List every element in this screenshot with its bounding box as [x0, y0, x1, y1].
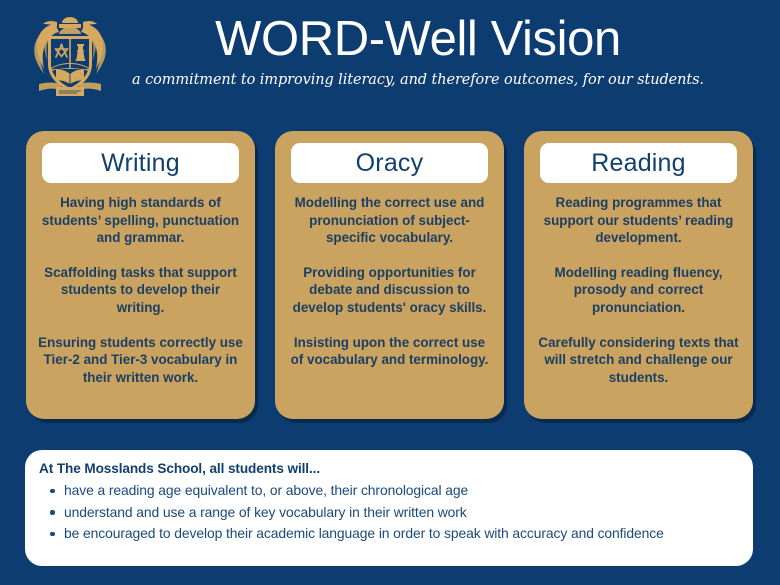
card-writing-paragraph-2: Scaffolding tasks that support students … [38, 264, 243, 317]
list-item: understand and use a range of key vocabu… [39, 502, 739, 524]
title-block: WORD-Well Vision a commitment to improvi… [118, 8, 718, 89]
student-outcomes-panel: At The Mosslands School, all students wi… [25, 450, 753, 566]
card-oracy-paragraph-2: Providing opportunities for debate and d… [287, 264, 492, 317]
card-reading-paragraph-2: Modelling reading fluency, prosody and c… [536, 264, 741, 317]
card-oracy: Oracy Modelling the correct use and pron… [275, 131, 504, 419]
card-reading-body: Reading programmes that support our stud… [534, 194, 743, 386]
strand-cards-row: Writing Having high standards of student… [0, 131, 780, 423]
poster-canvas: WORD-Well Vision a commitment to improvi… [0, 0, 780, 585]
card-oracy-title: Oracy [356, 150, 424, 176]
list-item-text: have a reading age equivalent to, or abo… [64, 482, 468, 498]
student-outcomes-heading: At The Mosslands School, all students wi… [39, 459, 739, 479]
card-writing-body: Having high standards of students’ spell… [36, 194, 245, 386]
school-crest-icon [31, 12, 109, 104]
list-item-text: be encouraged to develop their academic … [64, 525, 664, 541]
list-item-text: understand and use a range of key vocabu… [64, 504, 467, 520]
card-oracy-title-pill: Oracy [291, 143, 488, 183]
card-reading-paragraph-3: Carefully considering texts that will st… [536, 334, 741, 387]
page-title: WORD-Well Vision [118, 8, 718, 70]
card-oracy-paragraph-1: Modelling the correct use and pronunciat… [287, 194, 492, 247]
bullet-icon [50, 510, 55, 515]
page-subtitle: a commitment to improving literacy, and … [118, 71, 718, 89]
bullet-icon [50, 489, 55, 494]
student-outcomes-list: have a reading age equivalent to, or abo… [39, 480, 739, 545]
card-reading-title: Reading [591, 150, 686, 176]
card-writing-paragraph-1: Having high standards of students’ spell… [38, 194, 243, 247]
list-item: be encouraged to develop their academic … [39, 523, 739, 545]
card-reading: Reading Reading programmes that support … [524, 131, 753, 419]
card-oracy-paragraph-3: Insisting upon the correct use of vocabu… [287, 334, 492, 369]
bullet-icon [50, 532, 55, 537]
card-reading-paragraph-1: Reading programmes that support our stud… [536, 194, 741, 247]
card-writing-title: Writing [101, 150, 180, 176]
list-item: have a reading age equivalent to, or abo… [39, 480, 739, 502]
card-writing-title-pill: Writing [42, 143, 239, 183]
card-reading-title-pill: Reading [540, 143, 737, 183]
card-writing-paragraph-3: Ensuring students correctly use Tier-2 a… [38, 334, 243, 387]
card-oracy-body: Modelling the correct use and pronunciat… [285, 194, 494, 369]
card-writing: Writing Having high standards of student… [26, 131, 255, 419]
poster-header: WORD-Well Vision a commitment to improvi… [0, 0, 780, 118]
